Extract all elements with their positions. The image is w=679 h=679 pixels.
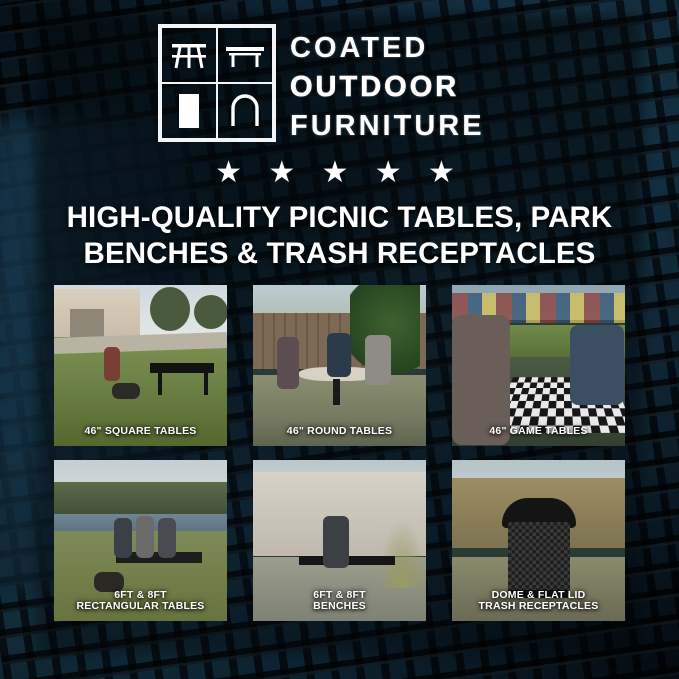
product-caption: 46" SQUARE TABLES: [54, 426, 227, 438]
product-poster: COATED OUTDOOR FURNITURE ★ ★ ★ ★ ★ HIGH-…: [0, 0, 679, 679]
caption-line-1: 46" GAME TABLES: [455, 426, 622, 438]
caption-line-1: 46" ROUND TABLES: [256, 426, 423, 438]
product-card-benches[interactable]: 6FT & 8FT BENCHES: [253, 460, 426, 621]
picnic-table-glyph: [169, 38, 209, 72]
product-card-trash-receptacles[interactable]: DOME & FLAT LID TRASH RECEPTACLES: [452, 460, 625, 621]
product-caption: DOME & FLAT LID TRASH RECEPTACLES: [452, 590, 625, 614]
trash-receptacle-icon: [161, 83, 217, 139]
brand-logo: COATED OUTDOOR FURNITURE: [158, 24, 485, 145]
caption-line-2: RECTANGULAR TABLES: [57, 601, 224, 613]
logo-line-furniture: FURNITURE: [290, 108, 485, 145]
headline-line-2: BENCHES & TRASH RECEPTACLES: [0, 236, 679, 272]
product-card-square-tables[interactable]: 46" SQUARE TABLES: [54, 285, 227, 446]
park-bench-glyph: [224, 40, 266, 70]
logo-wordmark: COATED OUTDOOR FURNITURE: [290, 24, 485, 145]
product-caption: 46" GAME TABLES: [452, 426, 625, 438]
park-bench-icon: [217, 27, 273, 83]
picnic-table-icon: [161, 27, 217, 83]
photo-square-tables: [54, 285, 227, 446]
logo-line-outdoor: OUTDOOR: [290, 69, 485, 106]
headline-line-1: HIGH-QUALITY PICNIC TABLES, PARK: [0, 200, 679, 236]
photo-round-tables: [253, 285, 426, 446]
caption-line-1: 46" SQUARE TABLES: [57, 426, 224, 438]
star-rating: ★ ★ ★ ★ ★: [0, 158, 679, 188]
photo-game-tables: [452, 285, 625, 446]
product-caption: 6FT & 8FT RECTANGULAR TABLES: [54, 590, 227, 614]
product-grid: 46" SQUARE TABLES 46" ROUND TABLE: [54, 285, 625, 621]
page-title: HIGH-QUALITY PICNIC TABLES, PARK BENCHES…: [0, 200, 679, 272]
poster-content: COATED OUTDOOR FURNITURE ★ ★ ★ ★ ★ HIGH-…: [0, 0, 679, 679]
product-card-rectangular-tables[interactable]: 6FT & 8FT RECTANGULAR TABLES: [54, 460, 227, 621]
logo-mark: [158, 24, 276, 142]
product-caption: 6FT & 8FT BENCHES: [253, 590, 426, 614]
product-caption: 46" ROUND TABLES: [253, 426, 426, 438]
product-card-game-tables[interactable]: 46" GAME TABLES: [452, 285, 625, 446]
caption-line-2: BENCHES: [256, 601, 423, 613]
trash-receptacle-glyph: [174, 89, 204, 133]
product-card-round-tables[interactable]: 46" ROUND TABLES: [253, 285, 426, 446]
caption-line-2: TRASH RECEPTACLES: [455, 601, 622, 613]
logo-line-coated: COATED: [290, 30, 485, 67]
arched-sign-icon: [217, 83, 273, 139]
arched-sign-glyph: [227, 92, 263, 130]
